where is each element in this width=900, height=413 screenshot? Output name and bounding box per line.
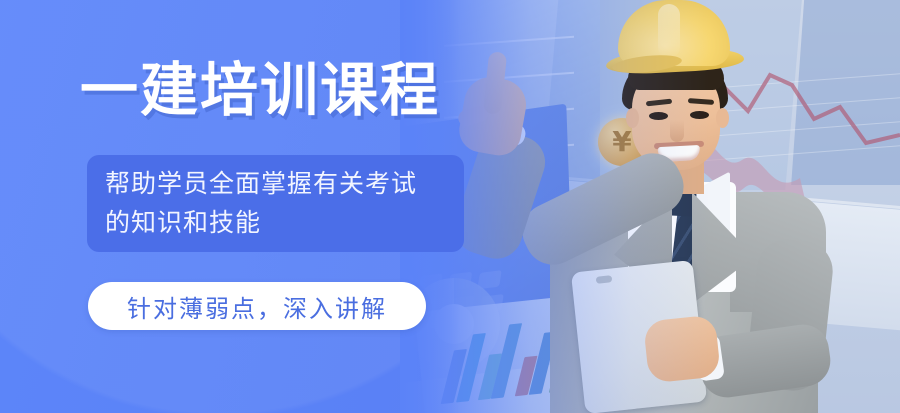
subtitle-text: 帮助学员全面掌握有关考试 的知识和技能	[105, 165, 455, 243]
cta-pill-label: 针对薄弱点，深入讲解	[127, 289, 387, 324]
ear-left	[626, 108, 639, 128]
banner-title: 一建培训课程	[80, 62, 440, 120]
ear-right	[716, 108, 729, 128]
eye-left	[649, 112, 668, 120]
cta-pill-button[interactable]: 针对薄弱点，深入讲解	[88, 282, 426, 330]
promo-banner: ¥	[0, 0, 900, 413]
nose	[670, 120, 684, 142]
subtitle-line-1: 帮助学员全面掌握有关考试	[105, 165, 455, 204]
photo-canvas: ¥	[400, 0, 900, 413]
person-figure	[400, 0, 900, 413]
subtitle-line-2: 的知识和技能	[105, 204, 455, 243]
hero-photo: ¥	[400, 0, 900, 413]
hard-hat-ridge	[658, 4, 680, 58]
eye-right	[690, 111, 709, 119]
hand-right	[643, 314, 721, 383]
